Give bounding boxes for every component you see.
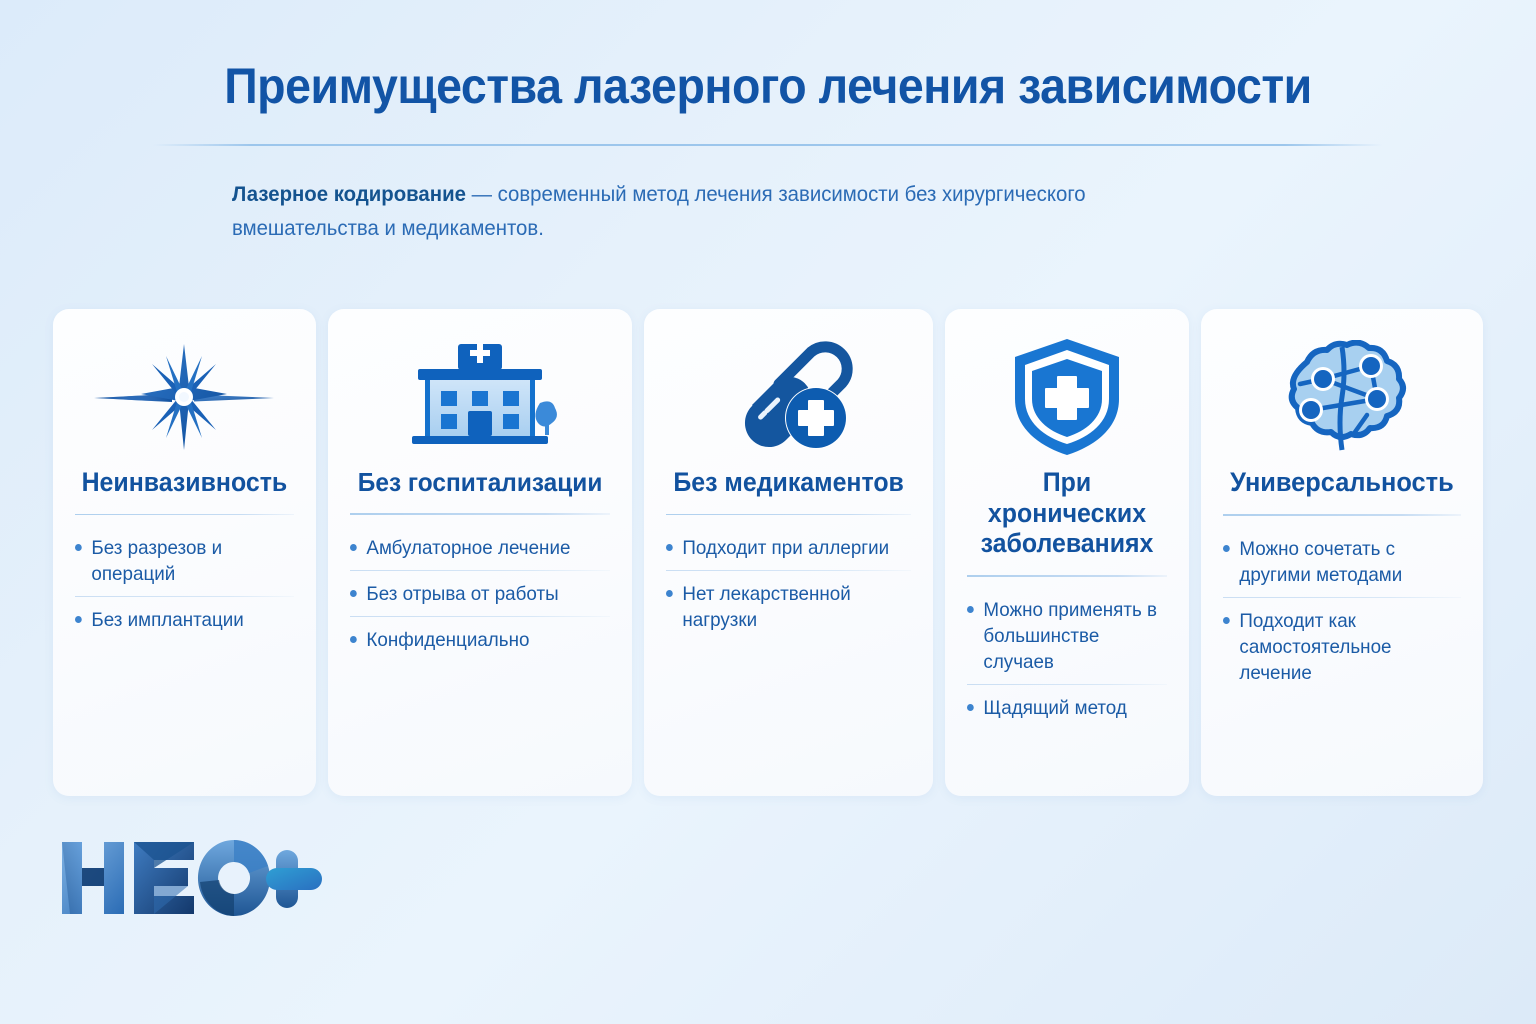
list-item: Щадящий метод xyxy=(967,685,1167,730)
bullet-list: Без разрезов и операций Без имплантации xyxy=(75,525,294,642)
brand-logo xyxy=(58,836,328,923)
neo-plus-logo-icon xyxy=(58,836,328,918)
list-item: Амбулаторное лечение xyxy=(350,525,610,570)
list-item: Без разрезов и операций xyxy=(75,525,294,596)
bullet-dot-icon xyxy=(75,616,82,623)
header: Преимущества лазерного лечения зависимос… xyxy=(0,58,1536,146)
bullet-dot-icon xyxy=(967,606,974,613)
list-item: Без имплантации xyxy=(75,597,294,642)
page-title: Преимущества лазерного лечения зависимос… xyxy=(54,58,1482,114)
subtitle: Лазерное кодирование — современный метод… xyxy=(232,178,1105,246)
bullet-list: Подходит при аллергии Нет лекарственной … xyxy=(666,525,911,642)
bullet-dot-icon xyxy=(350,636,357,643)
card-title-divider xyxy=(967,575,1167,577)
benefit-card-no-medication[interactable]: Без медикаментов Подходит при аллергии Н… xyxy=(644,309,933,796)
card-title-divider xyxy=(350,513,610,515)
list-item: Подходит при аллергии xyxy=(666,525,911,570)
icon-container xyxy=(1223,331,1461,463)
bullet-dot-icon xyxy=(350,590,357,597)
icon-container xyxy=(666,331,911,463)
bullet-dot-icon xyxy=(75,544,82,551)
hospital-building-icon xyxy=(400,341,560,453)
card-title-divider xyxy=(666,514,911,516)
infographic-canvas: Преимущества лазерного лечения зависимос… xyxy=(0,0,1536,1024)
title-divider xyxy=(153,144,1383,146)
list-item: Без отрыва от работы xyxy=(350,571,610,616)
bullet-text: Без разрезов и операций xyxy=(91,535,286,587)
bullet-dot-icon xyxy=(350,544,357,551)
laser-burst-icon xyxy=(94,342,274,452)
card-title: Универсальность xyxy=(1230,467,1454,498)
benefit-card-chronic-diseases[interactable]: При хронических заболеваниях Можно приме… xyxy=(945,309,1189,796)
card-title: Без госпитализации xyxy=(358,467,603,497)
icon-container xyxy=(350,331,610,463)
benefit-card-universality[interactable]: Универсальность Можно сочетать с другими… xyxy=(1201,309,1483,796)
brain-network-icon xyxy=(1267,340,1417,455)
card-title-divider xyxy=(75,514,294,516)
bullet-text: Можно применять в большинстве случаев xyxy=(984,597,1161,675)
list-item: Можно применять в большинстве случаев xyxy=(967,587,1167,684)
bullet-dot-icon xyxy=(666,544,673,551)
subtitle-bold: Лазерное кодирование xyxy=(232,183,466,206)
card-title: Без медикаментов xyxy=(673,467,904,498)
bullet-list: Можно применять в большинстве случаев Ща… xyxy=(967,587,1167,731)
bullet-text: Щадящий метод xyxy=(984,695,1127,721)
bullet-dot-icon xyxy=(1223,617,1230,624)
list-item: Подходит как самостоятельное лечение xyxy=(1223,598,1461,695)
bullet-text: Можно сочетать с другими методами xyxy=(1240,536,1453,588)
bullet-text: Амбулаторное лечение xyxy=(366,535,570,561)
bullet-dot-icon xyxy=(666,590,673,597)
bullet-text: Подходит как самостоятельное лечение xyxy=(1240,608,1453,686)
list-item: Можно сочетать с другими методами xyxy=(1223,526,1461,597)
card-title: При хронических заболеваниях xyxy=(973,467,1161,559)
card-title: Неинвазивность xyxy=(82,467,288,498)
card-title-divider xyxy=(1223,514,1461,516)
benefit-card-noninvasive[interactable]: Неинвазивность Без разрезов и операций Б… xyxy=(53,309,316,796)
list-item: Нет лекарственной нагрузки xyxy=(666,571,911,642)
benefit-card-no-hospitalization[interactable]: Без госпитализации Амбулаторное лечение … xyxy=(328,309,632,796)
benefit-cards-row: Неинвазивность Без разрезов и операций Б… xyxy=(53,309,1483,796)
bullet-text: Конфиденциально xyxy=(366,627,529,653)
bullet-text: Нет лекарственной нагрузки xyxy=(682,581,902,633)
bullet-list: Можно сочетать с другими методами Подход… xyxy=(1223,526,1461,696)
bullet-dot-icon xyxy=(967,704,974,711)
list-item: Конфиденциально xyxy=(350,617,610,662)
bullet-text: Подходит при аллергии xyxy=(682,535,889,561)
pill-cross-icon xyxy=(719,340,859,455)
bullet-text: Без отрыва от работы xyxy=(366,581,558,607)
icon-container xyxy=(967,331,1167,463)
shield-cross-icon xyxy=(1007,336,1127,458)
bullet-list: Амбулаторное лечение Без отрыва от работ… xyxy=(350,525,610,662)
bullet-dot-icon xyxy=(1223,545,1230,552)
bullet-text: Без имплантации xyxy=(91,607,243,633)
icon-container xyxy=(75,331,294,463)
